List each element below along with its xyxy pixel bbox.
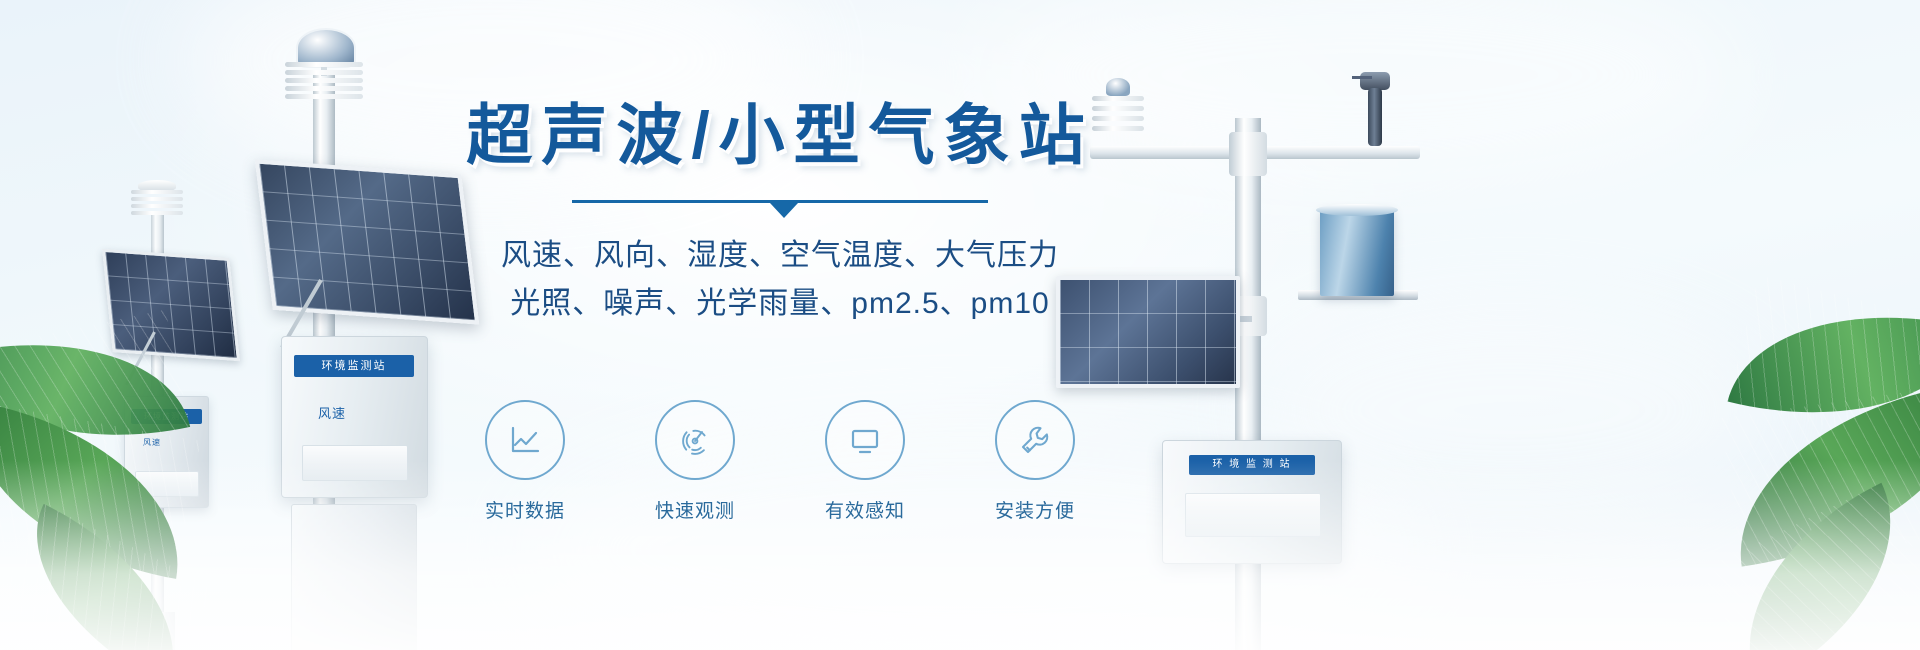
banner-subtitle-line-2: 光照、噪声、光学雨量、pm2.5、pm10: [400, 280, 1160, 328]
feature-item-realtime-data[interactable]: 实时数据: [462, 400, 588, 523]
cabinet-label: 环境监测站: [294, 355, 414, 377]
feature-item-effective-sensing[interactable]: 有效感知: [802, 400, 928, 523]
wrench-tool-icon: [995, 400, 1075, 480]
cabinet-brand-logo: 风速: [318, 403, 346, 422]
banner-copy: 超声波/小型气象站 风速、风向、湿度、空气温度、大气压力 光照、噪声、光学雨量、…: [400, 96, 1160, 328]
feature-label: 有效感知: [802, 496, 928, 523]
radiation-shield: [131, 190, 183, 220]
feature-item-easy-installation[interactable]: 安装方便: [972, 400, 1098, 523]
banner-subtitle-line-1: 风速、风向、湿度、空气温度、大气压力: [400, 232, 1160, 280]
mast-collar-upper: [1229, 132, 1267, 176]
radar-scan-icon: [655, 400, 735, 480]
feature-item-fast-observation[interactable]: 快速观测: [632, 400, 758, 523]
rain-gauge: [1320, 208, 1394, 296]
line-chart-icon: [485, 400, 565, 480]
feature-label: 实时数据: [462, 496, 588, 523]
feature-list: 实时数据 快速观测: [400, 400, 1160, 523]
product-banner: 环境监测站 风速 环境监测站 风速: [0, 0, 1920, 650]
title-divider: [572, 200, 988, 216]
banner-title: 超声波/小型气象站: [400, 96, 1160, 174]
radiation-shield: [285, 62, 363, 108]
feature-label: 快速观测: [632, 496, 758, 523]
feature-label: 安装方便: [972, 496, 1098, 523]
wind-vane-sensor: [1360, 70, 1390, 146]
divider-triangle-icon: [770, 203, 798, 218]
monitor-screen-icon: [825, 400, 905, 480]
